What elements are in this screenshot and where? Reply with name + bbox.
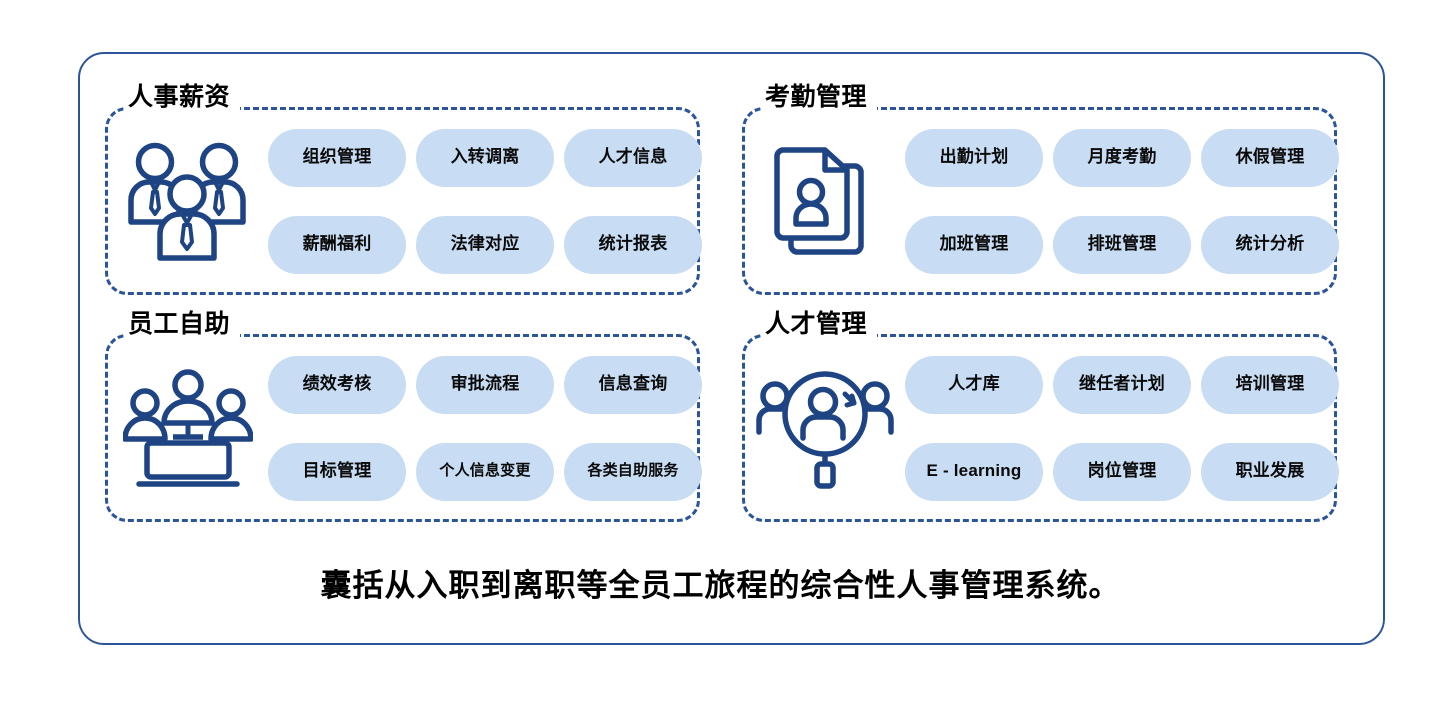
- people-podium-icon: [108, 367, 258, 489]
- pill-item[interactable]: 统计报表: [564, 216, 702, 274]
- pill-item[interactable]: 个人信息变更: [416, 443, 554, 501]
- pill-item[interactable]: 职业发展: [1201, 443, 1339, 501]
- pill-grid-hr-payroll: 组织管理 入转调离 人才信息 薪酬福利 法律对应 统计报表: [258, 129, 702, 274]
- pill-grid-employee-self-service: 绩效考核 审批流程 信息查询 目标管理 个人信息变更 各类自助服务: [258, 356, 702, 501]
- panel-title-hr-payroll: 人事薪资: [124, 85, 240, 110]
- panel-grid: 人事薪资 组织管理 入转调离 人: [105, 107, 1337, 522]
- panel-talent-management: 人才管理: [742, 334, 1337, 522]
- pill-item[interactable]: 薪酬福利: [268, 216, 406, 274]
- pill-item[interactable]: 培训管理: [1201, 356, 1339, 414]
- pill-grid-attendance: 出勤计划 月度考勤 休假管理 加班管理 排班管理 统计分析: [895, 129, 1339, 274]
- document-person-icon: [745, 140, 895, 262]
- three-people-icon: [108, 138, 258, 264]
- pill-item[interactable]: 入转调离: [416, 129, 554, 187]
- pill-item[interactable]: 人才信息: [564, 129, 702, 187]
- pill-item[interactable]: 岗位管理: [1053, 443, 1191, 501]
- panel-attendance: 考勤管理 出勤计划 月度考勤 休假管理 加班管理 排班管理 统计分析: [742, 107, 1337, 295]
- pill-item[interactable]: 出勤计划: [905, 129, 1043, 187]
- pill-item[interactable]: 各类自助服务: [564, 443, 702, 501]
- pill-item[interactable]: E - learning: [905, 443, 1043, 501]
- pill-item[interactable]: 统计分析: [1201, 216, 1339, 274]
- pill-item[interactable]: 审批流程: [416, 356, 554, 414]
- panel-hr-payroll: 人事薪资 组织管理 入转调离 人: [105, 107, 700, 295]
- pill-item[interactable]: 加班管理: [905, 216, 1043, 274]
- panel-title-attendance: 考勤管理: [761, 85, 877, 110]
- pill-item[interactable]: 排班管理: [1053, 216, 1191, 274]
- panel-employee-self-service: 员工自助 绩效考核 审批流程 信: [105, 334, 700, 522]
- pill-grid-talent-management: 人才库 继任者计划 培训管理 E - learning 岗位管理 职业发展: [895, 356, 1339, 501]
- pill-item[interactable]: 月度考勤: [1053, 129, 1191, 187]
- pill-item[interactable]: 绩效考核: [268, 356, 406, 414]
- summary-caption: 囊括从入职到离职等全员工旅程的综合性人事管理系统。: [0, 560, 1441, 605]
- pill-item[interactable]: 休假管理: [1201, 129, 1339, 187]
- panel-title-talent-management: 人才管理: [761, 312, 877, 337]
- pill-item[interactable]: 人才库: [905, 356, 1043, 414]
- pill-item[interactable]: 组织管理: [268, 129, 406, 187]
- pill-item[interactable]: 信息查询: [564, 356, 702, 414]
- panel-title-employee-self-service: 员工自助: [124, 312, 240, 337]
- pill-item[interactable]: 继任者计划: [1053, 356, 1191, 414]
- pill-item[interactable]: 目标管理: [268, 443, 406, 501]
- magnifier-people-icon: [745, 366, 895, 490]
- pill-item[interactable]: 法律对应: [416, 216, 554, 274]
